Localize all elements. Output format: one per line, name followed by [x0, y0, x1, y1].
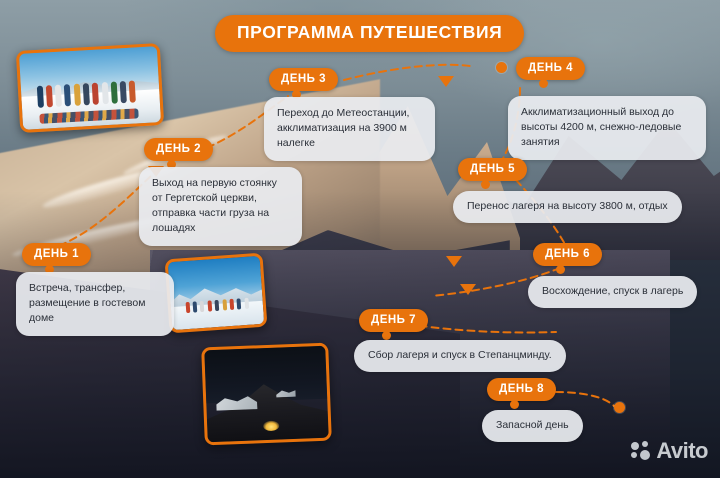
route-marker-triangle [460, 284, 476, 295]
day-bubble-8: Запасной день [482, 410, 583, 442]
connector-dot-6 [556, 265, 565, 274]
page-title: ПРОГРАММА ПУТЕШЕСТВИЯ [215, 15, 524, 52]
day-badge-7: ДЕНЬ 7 [359, 309, 428, 332]
connector-dot-5 [481, 180, 490, 189]
day-badge-2: ДЕНЬ 2 [144, 138, 213, 161]
connector-dot-8 [510, 400, 519, 409]
avito-wordmark: Avito [656, 440, 708, 462]
photo-group-on-summit [16, 43, 164, 133]
connector-dot-7 [382, 331, 391, 340]
day-bubble-7: Сбор лагеря и спуск в Степанцминду. [354, 340, 566, 372]
photo-trekkers-line [165, 253, 268, 334]
day-badge-5: ДЕНЬ 5 [458, 158, 527, 181]
travel-program-poster: ПРОГРАММА ПУТЕШЕСТВИЯ [0, 0, 720, 478]
day-bubble-4: Акклиматизационный выход до высоты 4200 … [508, 96, 706, 160]
day-bubble-1: Встреча, трансфер, размещение в гостевом… [16, 272, 174, 336]
day-badge-4: ДЕНЬ 4 [516, 57, 585, 80]
day-bubble-5: Перенос лагеря на высоту 3800 м, отдых [453, 191, 682, 223]
route-node [496, 62, 507, 73]
route-marker-triangle [438, 76, 454, 87]
route-node [614, 402, 625, 413]
avito-watermark: Avito [631, 440, 708, 462]
route-marker-triangle [446, 256, 462, 267]
photo-night-camp-tent [201, 343, 332, 446]
day-bubble-3: Переход до Метеостанции, акклиматизация … [264, 97, 435, 161]
day-bubble-2: Выход на первую стоянку от Гергетской це… [139, 167, 302, 246]
day-bubble-6: Восхождение, спуск в лагерь [528, 276, 697, 308]
day-badge-6: ДЕНЬ 6 [533, 243, 602, 266]
route-seg-8 [556, 392, 614, 406]
avito-logo-icon [631, 441, 651, 461]
connector-dot-4 [539, 79, 548, 88]
route-seg-1-2 [48, 175, 152, 250]
day-badge-3: ДЕНЬ 3 [269, 68, 338, 91]
day-badge-8: ДЕНЬ 8 [487, 378, 556, 401]
day-badge-1: ДЕНЬ 1 [22, 243, 91, 266]
